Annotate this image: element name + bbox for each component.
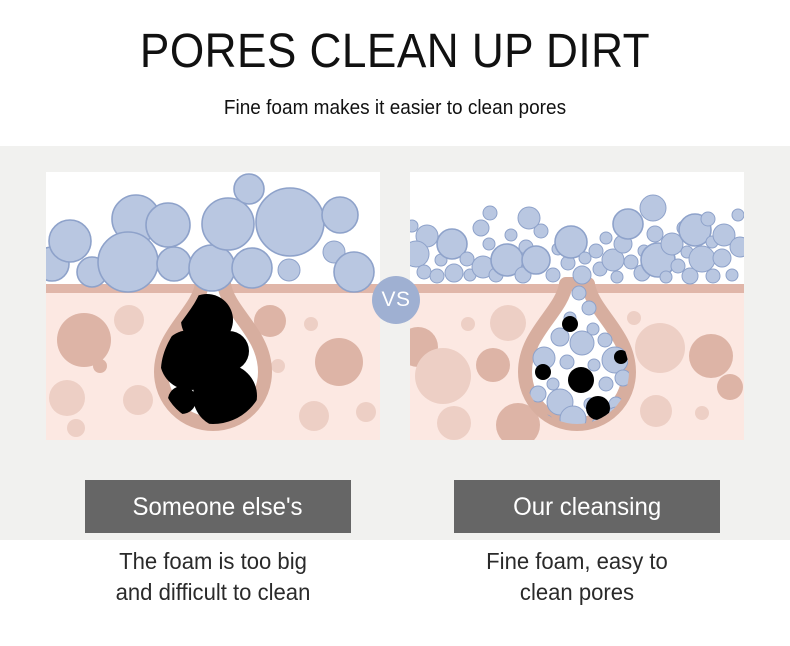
pore-foam-bubble <box>547 378 559 390</box>
foam-bubble <box>460 252 474 266</box>
foam-bubble <box>445 264 463 282</box>
skin-spot <box>490 305 526 341</box>
skin-spot <box>461 317 475 331</box>
skin-spot <box>67 419 85 437</box>
panel-someone-elses <box>46 172 380 440</box>
skin-spot <box>315 338 363 386</box>
skin-spot <box>299 401 329 431</box>
foam-bubble <box>430 269 444 283</box>
foam-bubble <box>417 265 431 279</box>
coarse-foam-illustration <box>46 172 380 440</box>
skin-spot <box>640 395 672 427</box>
dirt-blob <box>535 364 551 380</box>
caption-left-line2: and difficult to clean <box>53 577 374 608</box>
foam-bubble <box>483 238 495 250</box>
foam-bubble <box>573 266 591 284</box>
infographic-root: PORES CLEAN UP DIRT Fine foam makes it e… <box>0 0 790 646</box>
foam-bubble <box>713 249 731 267</box>
skin-spot <box>356 402 376 422</box>
foam-bubble <box>660 271 672 283</box>
foam-bubble <box>256 188 324 256</box>
foam-bubble <box>589 244 603 258</box>
skin-spot <box>49 380 85 416</box>
skin-spot <box>476 348 510 382</box>
foam-bubble <box>689 246 715 272</box>
label-bar-our-cleansing: Our cleansing <box>454 480 720 533</box>
foam-bubble <box>611 271 623 283</box>
foam-bubble <box>624 255 638 269</box>
dirt-blob <box>568 367 594 393</box>
page-subtitle: Fine foam makes it easier to clean pores <box>20 95 771 121</box>
dirt-blob <box>562 316 578 332</box>
vs-label: VS <box>381 288 410 312</box>
panel-our-cleansing <box>410 172 744 440</box>
skin-spot <box>415 348 471 404</box>
foam-bubble <box>640 195 666 221</box>
foam-bubble <box>322 197 358 233</box>
foam-bubble <box>49 220 91 262</box>
foam-bubble <box>518 207 540 229</box>
foam-bubble <box>189 245 235 291</box>
skin-spot <box>627 311 641 325</box>
caption-someone-elses: The foam is too big and difficult to cle… <box>46 546 380 608</box>
skin-spot <box>689 334 733 378</box>
foam-bubble <box>726 269 738 281</box>
skin-spot <box>635 323 685 373</box>
vs-badge: VS <box>372 276 420 324</box>
caption-right-line2: clean pores <box>417 577 738 608</box>
skin-spot <box>717 374 743 400</box>
foam-bubble <box>732 209 744 221</box>
label-bar-left-text: Someone else's <box>133 492 303 522</box>
label-bar-right-text: Our cleansing <box>513 492 661 522</box>
skin-spot <box>114 305 144 335</box>
foam-bubble <box>410 220 418 232</box>
label-bar-someone-elses: Someone else's <box>85 480 351 533</box>
foam-bubble <box>202 198 254 250</box>
skin-spot <box>57 313 111 367</box>
caption-our-cleansing: Fine foam, easy to clean pores <box>410 546 744 608</box>
pore-foam-bubble <box>560 355 574 369</box>
foam-bubble <box>701 212 715 226</box>
foam-bubble <box>98 232 158 292</box>
foam-bubble <box>600 232 612 244</box>
foam-bubble <box>146 203 190 247</box>
foam-bubble <box>671 259 685 273</box>
foam-bubble <box>278 259 300 281</box>
foam-bubble <box>234 174 264 204</box>
skin-spot <box>304 317 318 331</box>
foam-bubble <box>522 246 550 274</box>
caption-left-line1: The foam is too big <box>53 546 374 577</box>
skin-spot <box>123 385 153 415</box>
foam-bubble <box>473 220 489 236</box>
foam-bubble <box>232 248 272 288</box>
foam-bubble <box>157 247 191 281</box>
pore-foam-bubble <box>570 331 594 355</box>
foam-bubble <box>505 229 517 241</box>
pore-foam-bubble <box>599 377 613 391</box>
foam-bubble <box>613 209 643 239</box>
skin-spot <box>437 406 471 440</box>
pore-foam-bubble <box>572 286 586 300</box>
skin-spot <box>271 359 285 373</box>
caption-right-line1: Fine foam, easy to <box>417 546 738 577</box>
pore-foam-bubble <box>598 333 612 347</box>
skin-spot <box>695 406 709 420</box>
fine-foam-illustration <box>410 172 744 440</box>
foam-bubble <box>546 268 560 282</box>
foam-bubble <box>706 269 720 283</box>
header: PORES CLEAN UP DIRT Fine foam makes it e… <box>0 0 790 146</box>
foam-bubble <box>334 252 374 292</box>
skin-spot <box>93 359 107 373</box>
pore-foam-bubble <box>582 301 596 315</box>
page-title: PORES CLEAN UP DIRT <box>32 24 759 80</box>
foam-bubble <box>483 206 497 220</box>
foam-bubble <box>647 226 663 242</box>
pore-foam-bubble <box>588 359 600 371</box>
